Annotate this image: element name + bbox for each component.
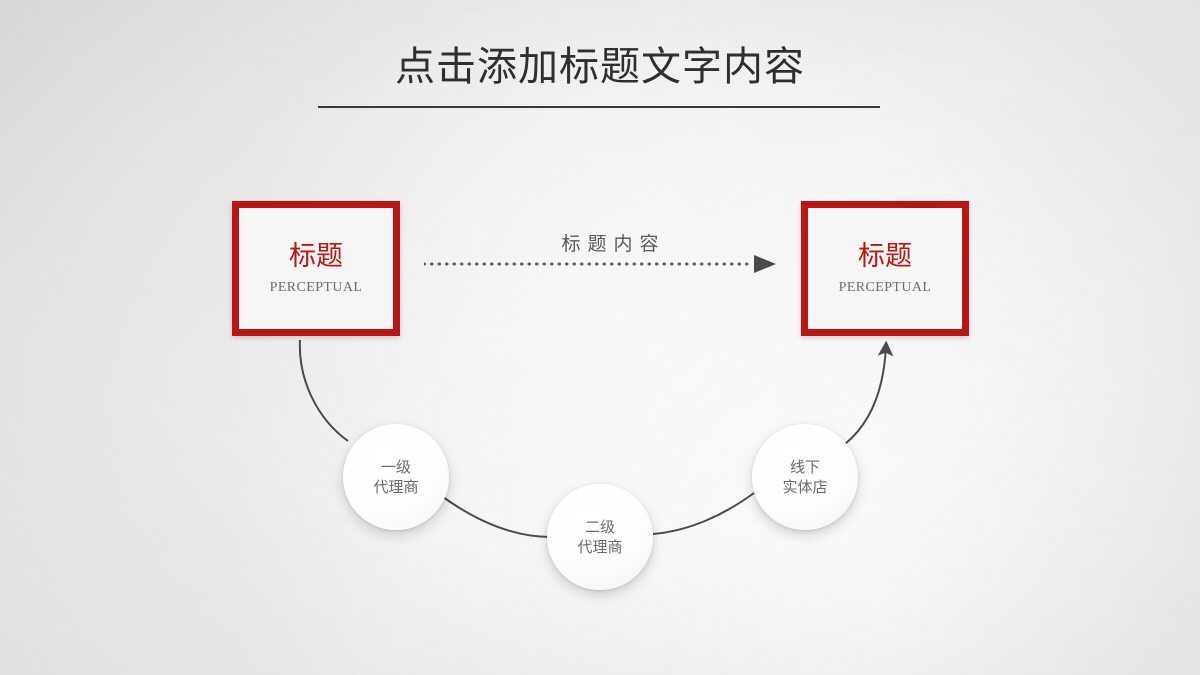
slide-canvas: 点击添加标题文字内容 标题 PERCEPTUAL 标题 PERCEPTUAL 标… — [0, 0, 1200, 675]
red-box-left-subtitle: PERCEPTUAL — [262, 279, 370, 296]
node-circle-2[interactable]: 二级 代理商 — [547, 484, 653, 590]
red-box-left-title: 标题 — [289, 241, 343, 273]
node-circle-2-label: 二级 代理商 — [577, 517, 622, 557]
red-box-right-title: 标题 — [858, 241, 912, 273]
dotted-arrow-icon — [424, 252, 784, 276]
node-circle-1-label: 一级 代理商 — [373, 457, 418, 497]
node-circle-3-label: 线下 实体店 — [782, 457, 827, 497]
red-box-right-subtitle: PERCEPTUAL — [831, 279, 939, 296]
red-box-left[interactable]: 标题 PERCEPTUAL — [232, 201, 400, 336]
node-circle-3[interactable]: 线下 实体店 — [752, 424, 858, 530]
node-circle-1[interactable]: 一级 代理商 — [343, 424, 449, 530]
red-box-right[interactable]: 标题 PERCEPTUAL — [801, 201, 969, 336]
